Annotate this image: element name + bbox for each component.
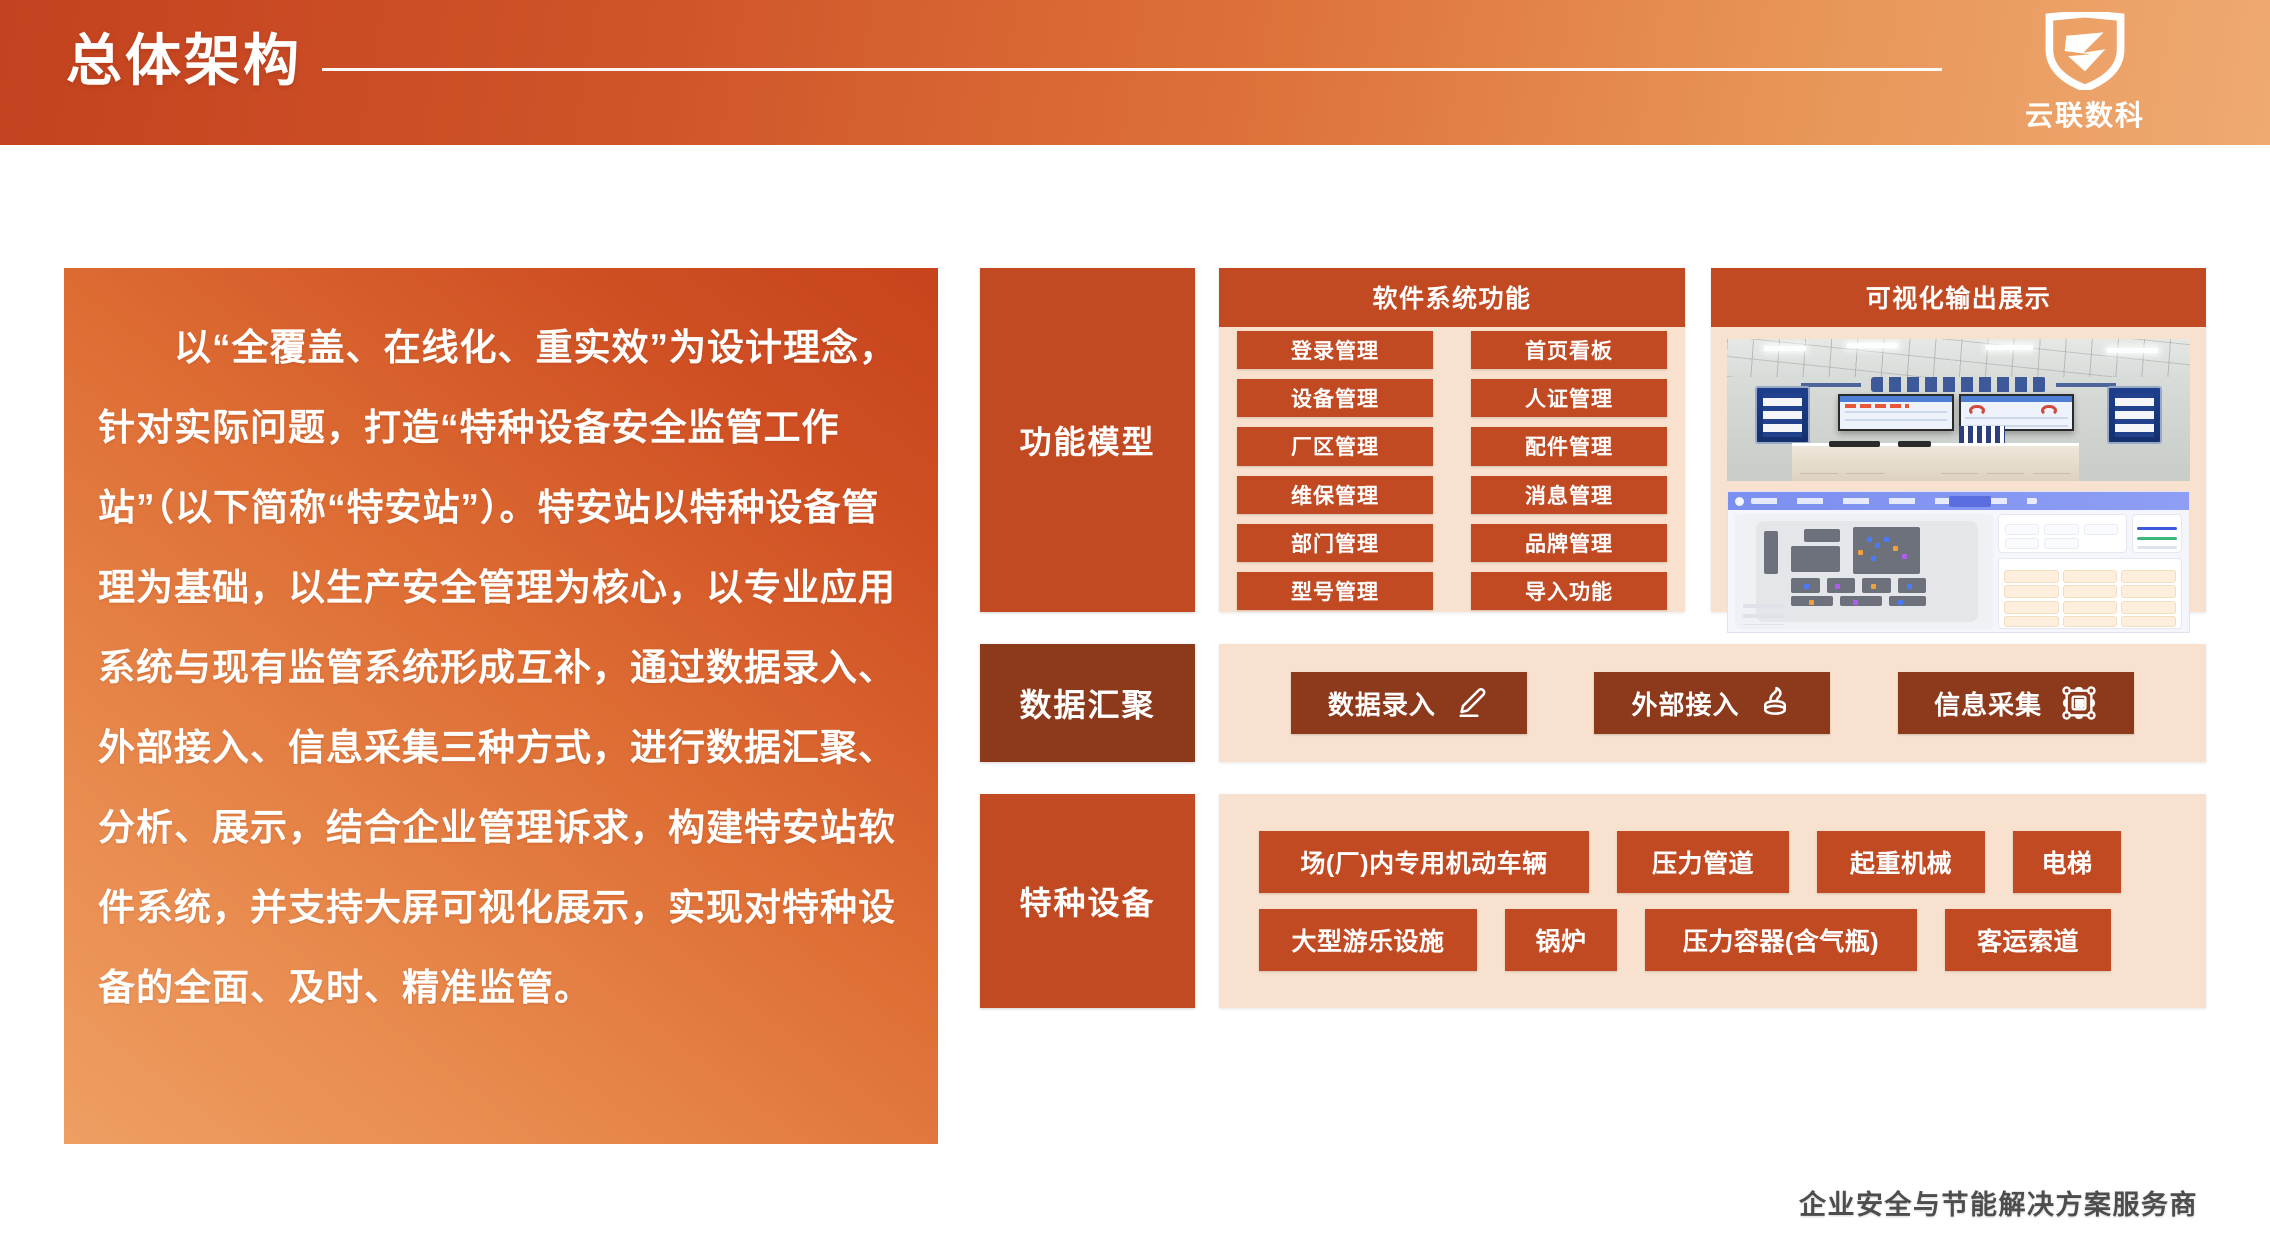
- footer-tagline: 企业安全与节能解决方案服务商: [1799, 1183, 2198, 1222]
- aggregation-button-external-access[interactable]: 外部接入: [1594, 672, 1830, 734]
- software-function-title: 软件系统功能: [1219, 268, 1685, 327]
- function-button-plant[interactable]: 厂区管理: [1237, 427, 1433, 465]
- sensor-chip-icon: [2060, 684, 2098, 722]
- pencil-icon: [1454, 685, 1490, 721]
- function-button-brand[interactable]: 品牌管理: [1471, 524, 1667, 562]
- wall-sign-text: [1871, 377, 2047, 391]
- row-label-data-aggregation: 数据汇聚: [980, 644, 1195, 762]
- visualization-panel: 可视化输出展示: [1711, 268, 2206, 612]
- aggregation-button-data-entry[interactable]: 数据录入: [1291, 672, 1527, 734]
- wall-display-left: [1838, 394, 1954, 431]
- database-icon: [1757, 685, 1793, 721]
- header-divider: [322, 68, 1942, 71]
- data-aggregation-panel: 数据录入 外部接入: [1219, 644, 2206, 762]
- factory-floor-map: [1735, 514, 1993, 629]
- slide-root: 总体架构 云联数科 以“全覆盖、在线化、重实效”为设计理念，针对实际问题，打造“…: [0, 0, 2270, 1244]
- function-button-message[interactable]: 消息管理: [1471, 476, 1667, 514]
- aggregation-label-external-access: 外部接入: [1631, 685, 1739, 722]
- dashboard-side-panels: [1998, 514, 2182, 629]
- dashboard-screenshot: [1727, 491, 2190, 633]
- today-status-card: [2132, 514, 2182, 553]
- software-function-grid: 登录管理 首页看板 设备管理 人证管理 厂区管理 配件管理 维保管理 消息管理 …: [1219, 327, 1685, 612]
- mouse-pad: [1898, 441, 1930, 447]
- document-binders: [1959, 426, 2005, 443]
- function-button-parts[interactable]: 配件管理: [1471, 427, 1667, 465]
- function-button-import[interactable]: 导入功能: [1471, 572, 1667, 610]
- architecture-rows: 功能模型 软件系统功能 登录管理 首页看板 设备管理 人证管理 厂区管理 配件管…: [980, 268, 2206, 1008]
- equipment-button-passenger-ropeway[interactable]: 客运索道: [1945, 909, 2111, 971]
- equipment-button-boiler[interactable]: 锅炉: [1505, 909, 1617, 971]
- brand-logo: 云联数科: [1970, 12, 2200, 134]
- aggregation-label-information-collection: 信息采集: [1934, 685, 2042, 722]
- software-function-panel: 软件系统功能 登录管理 首页看板 设备管理 人证管理 厂区管理 配件管理 维保管…: [1219, 268, 1685, 612]
- visualization-title: 可视化输出展示: [1711, 268, 2206, 327]
- wall-poster-right: [2107, 386, 2163, 444]
- ceiling-tiles: [1727, 339, 2190, 377]
- wall-trim: [1801, 383, 1861, 387]
- row-special-equipment: 特种设备 场(厂)内专用机动车辆 压力管道 起重机械 电梯 大型游乐设施 锅炉 …: [980, 794, 2206, 1008]
- aggregation-label-data-entry: 数据录入: [1328, 685, 1436, 722]
- ceiling-lamp: [1764, 346, 1806, 351]
- equipment-button-lifting-machine[interactable]: 起重机械: [1817, 831, 1985, 893]
- visualization-body: [1711, 327, 2206, 647]
- device-type-stats-card: [1998, 514, 2127, 553]
- intro-paragraph: 以“全覆盖、在线化、重实效”为设计理念，针对实际问题，打造“特种设备安全监管工作…: [64, 268, 938, 1028]
- row-data-aggregation: 数据汇聚 数据录入 外部接入: [980, 644, 2206, 762]
- ceiling-lamp: [1986, 345, 2032, 350]
- row-label-function-model: 功能模型: [980, 268, 1195, 612]
- ceiling-lamp: [1847, 343, 1898, 348]
- equipment-row-2: 大型游乐设施 锅炉 压力容器(含气瓶) 客运索道: [1259, 909, 2166, 971]
- function-button-maintenance[interactable]: 维保管理: [1237, 476, 1433, 514]
- equipment-button-elevator[interactable]: 电梯: [2013, 831, 2121, 893]
- device-list-card: [1998, 558, 2182, 629]
- function-button-device[interactable]: 设备管理: [1237, 379, 1433, 417]
- function-button-model[interactable]: 型号管理: [1237, 572, 1433, 610]
- dashboard-navbar: [1728, 492, 2189, 510]
- wall-poster-left: [1755, 386, 1811, 444]
- slide-header: 总体架构 云联数科: [0, 0, 2270, 145]
- equipment-button-pressure-vessel[interactable]: 压力容器(含气瓶): [1645, 909, 1917, 971]
- function-button-dashboard[interactable]: 首页看板: [1471, 331, 1667, 369]
- special-equipment-panel: 场(厂)内专用机动车辆 压力管道 起重机械 电梯 大型游乐设施 锅炉 压力容器(…: [1219, 794, 2206, 1008]
- brand-logo-text: 云联数科: [2025, 94, 2145, 134]
- equipment-button-pressure-pipe[interactable]: 压力管道: [1617, 831, 1789, 893]
- equipment-button-amusement-ride[interactable]: 大型游乐设施: [1259, 909, 1477, 971]
- operator-desk: [1792, 443, 2079, 481]
- intro-panel: 以“全覆盖、在线化、重实效”为设计理念，针对实际问题，打造“特种设备安全监管工作…: [64, 268, 938, 1144]
- aggregation-button-information-collection[interactable]: 信息采集: [1898, 672, 2134, 734]
- function-button-department[interactable]: 部门管理: [1237, 524, 1433, 562]
- equipment-row-1: 场(厂)内专用机动车辆 压力管道 起重机械 电梯: [1259, 831, 2166, 893]
- keyboard: [1829, 441, 1880, 447]
- map-legend: [1743, 604, 1784, 625]
- row-label-special-equipment: 特种设备: [980, 794, 1195, 1008]
- function-button-login[interactable]: 登录管理: [1237, 331, 1433, 369]
- function-button-credential[interactable]: 人证管理: [1471, 379, 1667, 417]
- control-room-photo: [1727, 339, 2190, 481]
- row-function-model: 功能模型 软件系统功能 登录管理 首页看板 设备管理 人证管理 厂区管理 配件管…: [980, 268, 2206, 612]
- shield-logo-icon: [2042, 12, 2128, 90]
- equipment-button-plant-vehicle[interactable]: 场(厂)内专用机动车辆: [1259, 831, 1589, 893]
- page-title: 总体架构: [66, 26, 302, 96]
- ceiling-lamp: [2107, 348, 2158, 353]
